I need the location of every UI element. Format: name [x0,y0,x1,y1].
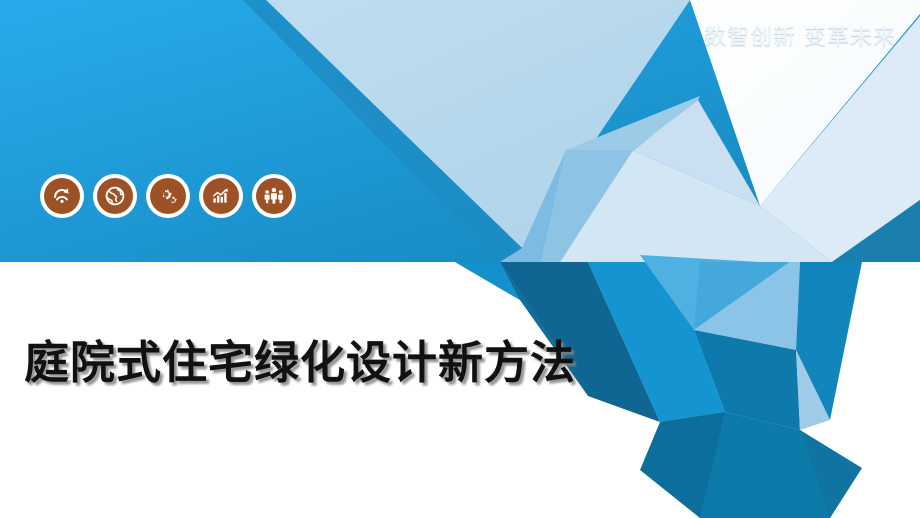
icon-badge-people-group[interactable] [252,174,296,218]
icon-badge-bar-chart[interactable] [199,174,243,218]
slide-tagline: 数智创新 变革未来 [704,27,896,49]
icon-disc [150,178,186,214]
bar-chart-icon [209,184,233,208]
globe-icon [103,184,127,208]
page-title: 庭院式住宅绿化设计新方法 [24,326,576,391]
icon-badge-gears[interactable] [146,174,190,218]
icon-disc [44,178,80,214]
gears-icon [156,184,180,208]
presentation-title-slide: 数智创新 变革未来 [0,0,920,518]
icon-disc [256,178,292,214]
geometric-background-artwork [0,0,920,518]
icon-badge-globe[interactable] [93,174,137,218]
icon-strip [40,174,296,218]
people-group-icon [262,184,286,208]
icon-badge-recycle-growth[interactable] [40,174,84,218]
icon-disc [97,178,133,214]
recycle-growth-icon [50,184,74,208]
icon-disc [203,178,239,214]
